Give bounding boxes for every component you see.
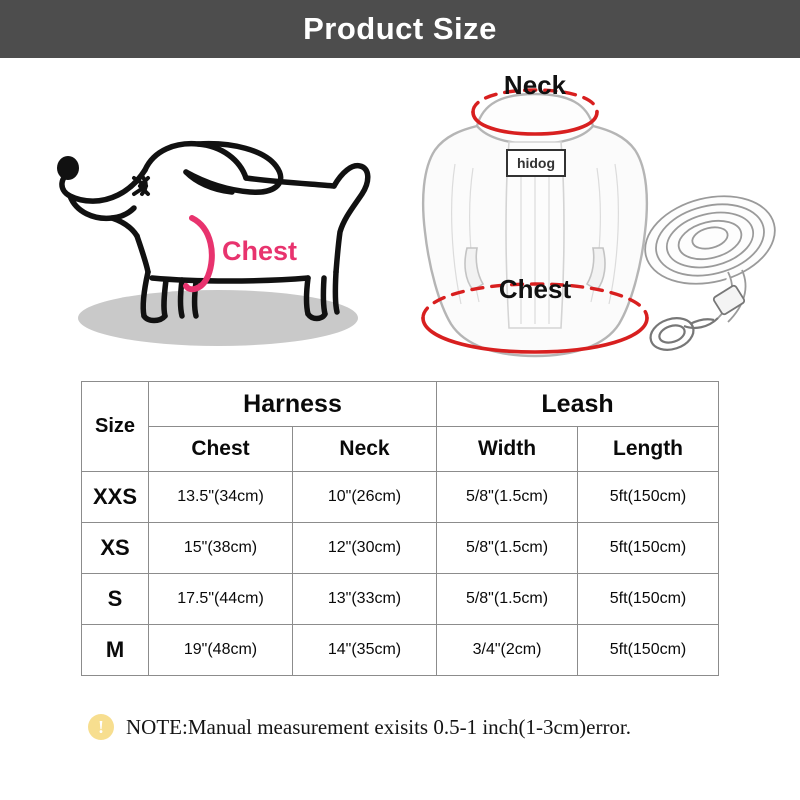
leash-snap-hook <box>646 313 718 355</box>
cell-leash-width: 5/8"(1.5cm) <box>437 574 578 625</box>
dog-head-dome <box>145 144 246 178</box>
harness-illustration: hidog Neck Chest <box>405 72 665 367</box>
exclamation-icon: ! <box>88 714 114 740</box>
dog-belly <box>152 278 308 281</box>
size-chart-table: Size Harness Leash Chest Neck Width Leng… <box>81 381 719 676</box>
dog-nose <box>57 156 79 180</box>
table-head: Size Harness Leash Chest Neck Width Leng… <box>82 382 719 472</box>
table-header-row-subs: Chest Neck Width Length <box>82 427 719 472</box>
cell-leash-length: 5ft(150cm) <box>578 472 719 523</box>
cell-leash-width: 5/8"(1.5cm) <box>437 472 578 523</box>
harness-neck-label: Neck <box>504 72 567 100</box>
dog-back <box>246 178 334 186</box>
harness-chest-label: Chest <box>499 274 572 304</box>
dog-chest-label: Chest <box>222 236 297 266</box>
cell-harness-neck: 10"(26cm) <box>293 472 437 523</box>
header-banner: Product Size <box>0 0 800 58</box>
cell-leash-length: 5ft(150cm) <box>578 574 719 625</box>
dog-rear-leg-2 <box>323 278 325 314</box>
cell-leash-width: 5/8"(1.5cm) <box>437 523 578 574</box>
cell-harness-chest: 13.5"(34cm) <box>149 472 293 523</box>
cell-size: XS <box>82 523 149 574</box>
dog-front-leg-2 <box>164 280 166 316</box>
cell-harness-neck: 13"(33cm) <box>293 574 437 625</box>
header-leash: Leash <box>437 382 719 427</box>
leash-illustration <box>632 178 800 363</box>
header-harness: Harness <box>149 382 437 427</box>
dog-rear-leg-1 <box>307 278 309 314</box>
table-row: XS 15"(38cm) 12"(30cm) 5/8"(1.5cm) 5ft(1… <box>82 523 719 574</box>
header-size: Size <box>82 382 149 472</box>
dog-chest-front <box>137 236 148 272</box>
dog-chin <box>112 218 137 236</box>
table-header-row-groups: Size Harness Leash <box>82 382 719 427</box>
table-body: XXS 13.5"(34cm) 10"(26cm) 5/8"(1.5cm) 5f… <box>82 472 719 676</box>
header-leash-width: Width <box>437 427 578 472</box>
cell-size: XXS <box>82 472 149 523</box>
harness-collar <box>477 94 593 144</box>
header-harness-neck: Neck <box>293 427 437 472</box>
table-row: XXS 13.5"(34cm) 10"(26cm) 5/8"(1.5cm) 5f… <box>82 472 719 523</box>
dog-illustration: Chest <box>36 120 386 360</box>
note-row: ! NOTE:Manual measurement exisits 0.5-1 … <box>88 714 631 740</box>
dog-front-leg-3 <box>181 280 183 316</box>
table-row: S 17.5"(44cm) 13"(33cm) 5/8"(1.5cm) 5ft(… <box>82 574 719 625</box>
illustration-band: Chest hidog <box>0 58 800 373</box>
header-leash-length: Length <box>578 427 719 472</box>
header-harness-chest: Chest <box>149 427 293 472</box>
cell-harness-chest: 15"(38cm) <box>149 523 293 574</box>
cell-harness-chest: 19"(48cm) <box>149 625 293 676</box>
table-row: M 19"(48cm) 14"(35cm) 3/4"(2cm) 5ft(150c… <box>82 625 719 676</box>
cell-harness-chest: 17.5"(44cm) <box>149 574 293 625</box>
note-text: NOTE:Manual measurement exisits 0.5-1 in… <box>126 715 631 740</box>
dog-rear-leg-3 <box>335 272 337 312</box>
cell-size: S <box>82 574 149 625</box>
cell-harness-neck: 12"(30cm) <box>293 523 437 574</box>
cell-leash-length: 5ft(150cm) <box>578 523 719 574</box>
cell-leash-length: 5ft(150cm) <box>578 625 719 676</box>
dog-tail <box>334 166 368 272</box>
page-title: Product Size <box>303 11 497 47</box>
leash-buckle <box>713 285 746 316</box>
cell-size: M <box>82 625 149 676</box>
cell-leash-width: 3/4"(2cm) <box>437 625 578 676</box>
cell-harness-neck: 14"(35cm) <box>293 625 437 676</box>
harness-brand-label: hidog <box>517 155 555 171</box>
